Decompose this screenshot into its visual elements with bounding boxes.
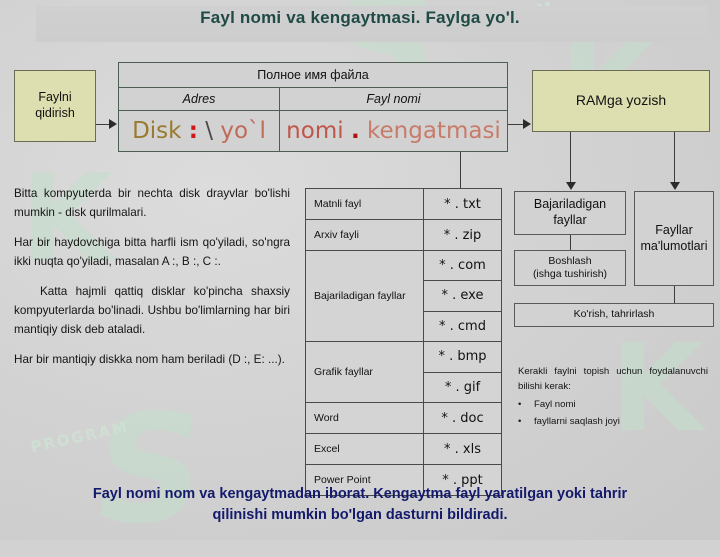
file-extension-group: * . com* . exe* . cmd bbox=[424, 251, 501, 341]
address-value: Disk : \ yo`l bbox=[119, 111, 280, 151]
executable-files-box: Bajariladigan fayllar bbox=[514, 191, 626, 235]
full-filename-header: Полное имя файла bbox=[119, 63, 507, 88]
search-file-label-line1: Faylni bbox=[35, 90, 75, 106]
subheader-filename: Fayl nomi bbox=[280, 88, 507, 110]
table-row: Word* . doc bbox=[306, 403, 501, 434]
file-type-label: Word bbox=[306, 403, 424, 433]
ram-write-box: RAMga yozish bbox=[532, 70, 710, 132]
name-token: nomi bbox=[286, 118, 343, 144]
file-extension-cell: * . xls bbox=[424, 434, 501, 464]
file-extension-group: * . bmp* . gif bbox=[424, 342, 501, 402]
slide-caption-line1: Fayl nomi nom va kengaytmadan iborat. Ke… bbox=[24, 484, 696, 505]
file-extension-cell: * . bmp bbox=[424, 342, 501, 373]
file-info-label-line2: ma'lumotlari bbox=[641, 239, 708, 255]
connector-table-to-ram bbox=[508, 124, 524, 125]
full-filename-subheader-row: Adres Fayl nomi bbox=[119, 88, 507, 111]
path-token: yo`l bbox=[220, 118, 266, 144]
paragraph-1: Bitta kompyuterda bir nechta disk drayvl… bbox=[14, 185, 290, 223]
paragraph-4: Har bir mantiqiy diskka nom ham beriladi… bbox=[14, 351, 290, 370]
list-item-label: Fayl nomi bbox=[534, 398, 576, 413]
file-type-label: Matnli fayl bbox=[306, 189, 424, 219]
arrow-down-icon bbox=[670, 182, 680, 190]
connector-info-to-view bbox=[674, 286, 675, 303]
requirements-note: Kerakli faylni topish uchun foydalanuvch… bbox=[518, 365, 708, 431]
paragraph-3: Katta hajmli qattiq disklar ko'pincha sh… bbox=[14, 283, 290, 340]
left-body-text: Bitta kompyuterda bir nechta disk drayvl… bbox=[14, 185, 290, 381]
file-type-table: Matnli fayl* . txtArxiv fayli* . zipBaja… bbox=[305, 188, 502, 496]
subheader-address: Adres bbox=[119, 88, 280, 110]
slide-caption: Fayl nomi nom va kengaytmadan iborat. Ke… bbox=[24, 484, 696, 526]
page-title: Fayl nomi va kengaytmasi. Faylga yo'l. bbox=[0, 8, 720, 28]
list-item-label: fayllarni saqlash joyi bbox=[534, 415, 620, 430]
list-item: •fayllarni saqlash joyi bbox=[518, 415, 708, 430]
executable-files-label-line1: Bajariladigan bbox=[534, 197, 606, 213]
paragraph-2: Har bir haydovchiga bitta harfli ism qo'… bbox=[14, 234, 290, 272]
requirements-list: •Fayl nomi•fayllarni saqlash joyi bbox=[518, 398, 708, 430]
search-file-label-line2: qidirish bbox=[35, 106, 75, 122]
bullet-icon: • bbox=[518, 398, 524, 413]
executable-files-label-line2: fayllar bbox=[534, 213, 606, 229]
connector-table-to-filetypes bbox=[460, 152, 461, 188]
list-item: •Fayl nomi bbox=[518, 398, 708, 413]
arrow-right-icon bbox=[109, 119, 117, 129]
table-row: Matnli fayl* . txt bbox=[306, 189, 501, 220]
table-row: Excel* . xls bbox=[306, 434, 501, 465]
file-type-label: Excel bbox=[306, 434, 424, 464]
slide-caption-line2: qilinishi mumkin bo'lgan dasturni bildir… bbox=[24, 505, 696, 526]
file-extension-group: * . doc bbox=[424, 403, 501, 433]
file-extension-cell: * . com bbox=[424, 251, 501, 281]
file-extension-cell: * . txt bbox=[424, 189, 501, 219]
bullet-icon: • bbox=[518, 415, 524, 430]
connector-search-to-table bbox=[96, 124, 110, 125]
extension-token: kengatmasi bbox=[367, 118, 501, 144]
colon-token: : bbox=[189, 118, 198, 144]
requirements-note-intro: Kerakli faylni topish uchun foydalanuvch… bbox=[518, 365, 708, 395]
file-extension-cell: * . cmd bbox=[424, 312, 501, 341]
disk-token: Disk bbox=[132, 118, 181, 144]
start-run-label-line1: Boshlash bbox=[533, 255, 607, 268]
search-file-box: Faylni qidirish bbox=[14, 70, 96, 142]
dot-token: . bbox=[351, 118, 360, 144]
connector-ram-to-executable bbox=[570, 132, 571, 183]
table-row: Grafik fayllar* . bmp* . gif bbox=[306, 342, 501, 403]
table-row: Arxiv fayli* . zip bbox=[306, 220, 501, 251]
start-run-box: Boshlash (ishga tushirish) bbox=[514, 250, 626, 286]
backslash-token: \ bbox=[205, 118, 213, 144]
file-extension-cell: * . exe bbox=[424, 281, 501, 311]
file-extension-cell: * . gif bbox=[424, 373, 501, 403]
filename-value: nomi . kengatmasi bbox=[280, 111, 507, 151]
file-type-label: Bajariladigan fayllar bbox=[306, 251, 424, 341]
start-run-label-line2: (ishga tushirish) bbox=[533, 268, 607, 281]
file-extension-group: * . txt bbox=[424, 189, 501, 219]
arrow-down-icon bbox=[566, 182, 576, 190]
full-filename-table: Полное имя файла Adres Fayl nomi Disk : … bbox=[118, 62, 508, 152]
file-extension-group: * . zip bbox=[424, 220, 501, 250]
file-type-label: Grafik fayllar bbox=[306, 342, 424, 402]
file-info-label-line1: Fayllar bbox=[641, 223, 708, 239]
file-extension-cell: * . zip bbox=[424, 220, 501, 250]
arrow-right-icon bbox=[523, 119, 531, 129]
file-extension-group: * . xls bbox=[424, 434, 501, 464]
view-edit-box: Ko'rish, tahrirlash bbox=[514, 303, 714, 327]
file-info-box: Fayllar ma'lumotlari bbox=[634, 191, 714, 286]
connector-executable-to-start bbox=[570, 235, 571, 250]
file-extension-cell: * . doc bbox=[424, 403, 501, 433]
full-filename-value-row: Disk : \ yo`l nomi . kengatmasi bbox=[119, 111, 507, 151]
connector-ram-to-info bbox=[674, 132, 675, 183]
table-row: Bajariladigan fayllar* . com* . exe* . c… bbox=[306, 251, 501, 342]
file-type-label: Arxiv fayli bbox=[306, 220, 424, 250]
